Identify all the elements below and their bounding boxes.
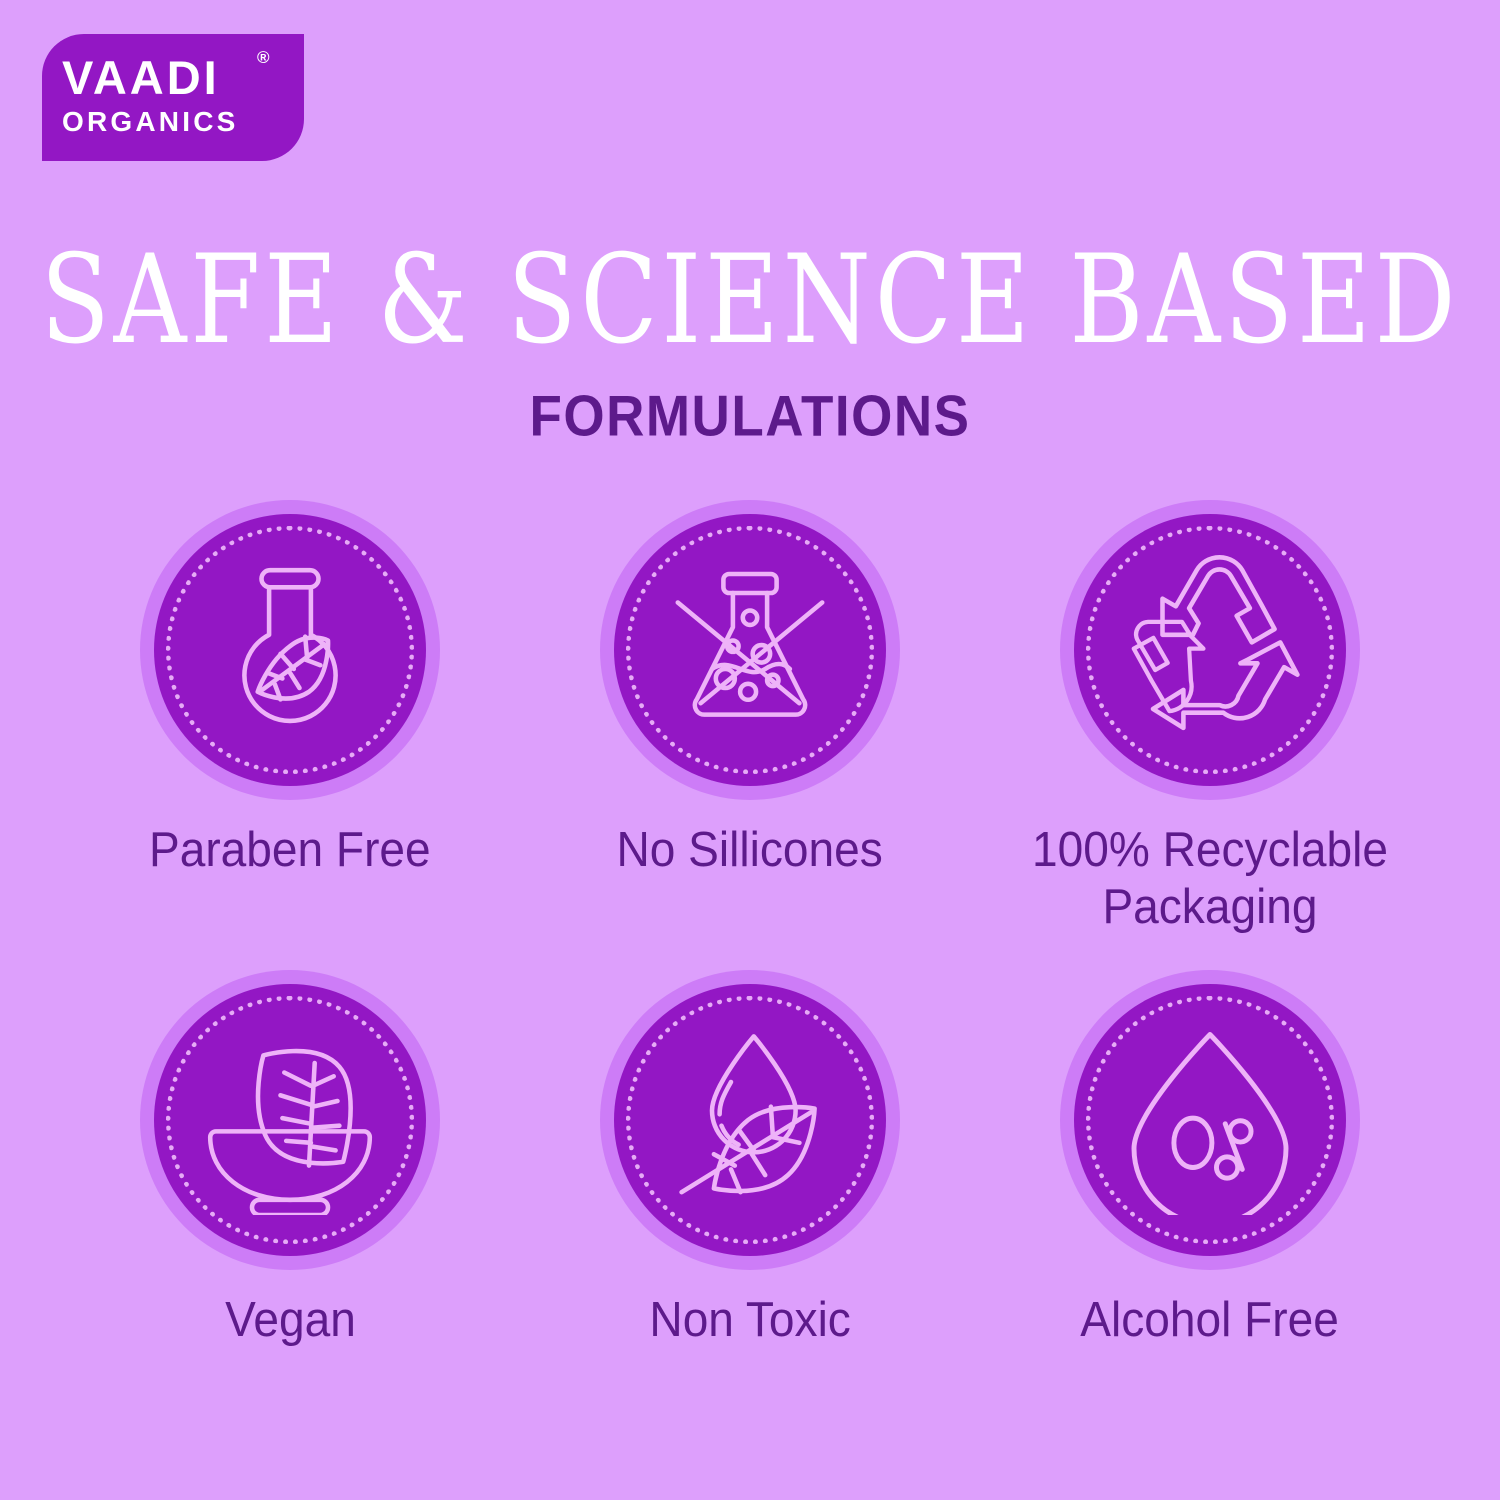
badge-label: No Sillicones bbox=[617, 822, 883, 879]
droplet-zero-percent-icon bbox=[1115, 1025, 1305, 1215]
page-headline: SAFE & SCIENCE BASED bbox=[23, 238, 1478, 361]
feature-item-recyclable-packaging: 100% Recyclable Packaging bbox=[980, 500, 1440, 936]
recycling-icon bbox=[1115, 555, 1305, 745]
badge-label: Paraben Free bbox=[149, 822, 431, 879]
badge-label: Non Toxic bbox=[649, 1292, 850, 1349]
registered-trademark-icon: ® bbox=[257, 48, 270, 68]
brand-logo: VAADI ® ORGANICS bbox=[42, 34, 304, 161]
badge-label: 100% Recyclable Packaging bbox=[1013, 822, 1408, 936]
badge-non-toxic bbox=[600, 970, 900, 1270]
badge-row-2: Vegan bbox=[0, 970, 1500, 1349]
badge-label: Alcohol Free bbox=[1081, 1292, 1340, 1349]
flask-leaf-icon bbox=[195, 555, 385, 745]
feature-item-paraben-free: Paraben Free bbox=[60, 500, 520, 879]
brand-name-primary: VAADI bbox=[62, 54, 220, 101]
badge-vegan bbox=[140, 970, 440, 1270]
brand-name-secondary: ORGANICS bbox=[62, 108, 304, 136]
badge-no-sillicones bbox=[600, 500, 900, 800]
page-subheadline: FORMULATIONS bbox=[0, 388, 1500, 445]
badge-recyclable-packaging bbox=[1060, 500, 1360, 800]
flask-crossed-out-icon bbox=[655, 555, 845, 745]
droplet-leaf-icon bbox=[655, 1025, 845, 1215]
badge-row-1: Paraben Free bbox=[0, 500, 1500, 936]
feature-item-non-toxic: Non Toxic bbox=[520, 970, 980, 1349]
bowl-leaf-icon bbox=[195, 1025, 385, 1215]
feature-item-alcohol-free: Alcohol Free bbox=[980, 970, 1440, 1349]
feature-item-no-sillicones: No Sillicones bbox=[520, 500, 980, 879]
feature-item-vegan: Vegan bbox=[60, 970, 520, 1349]
feature-badge-grid: Paraben Free bbox=[0, 500, 1500, 1348]
badge-label: Vegan bbox=[225, 1292, 356, 1349]
badge-paraben-free bbox=[140, 500, 440, 800]
badge-alcohol-free bbox=[1060, 970, 1360, 1270]
